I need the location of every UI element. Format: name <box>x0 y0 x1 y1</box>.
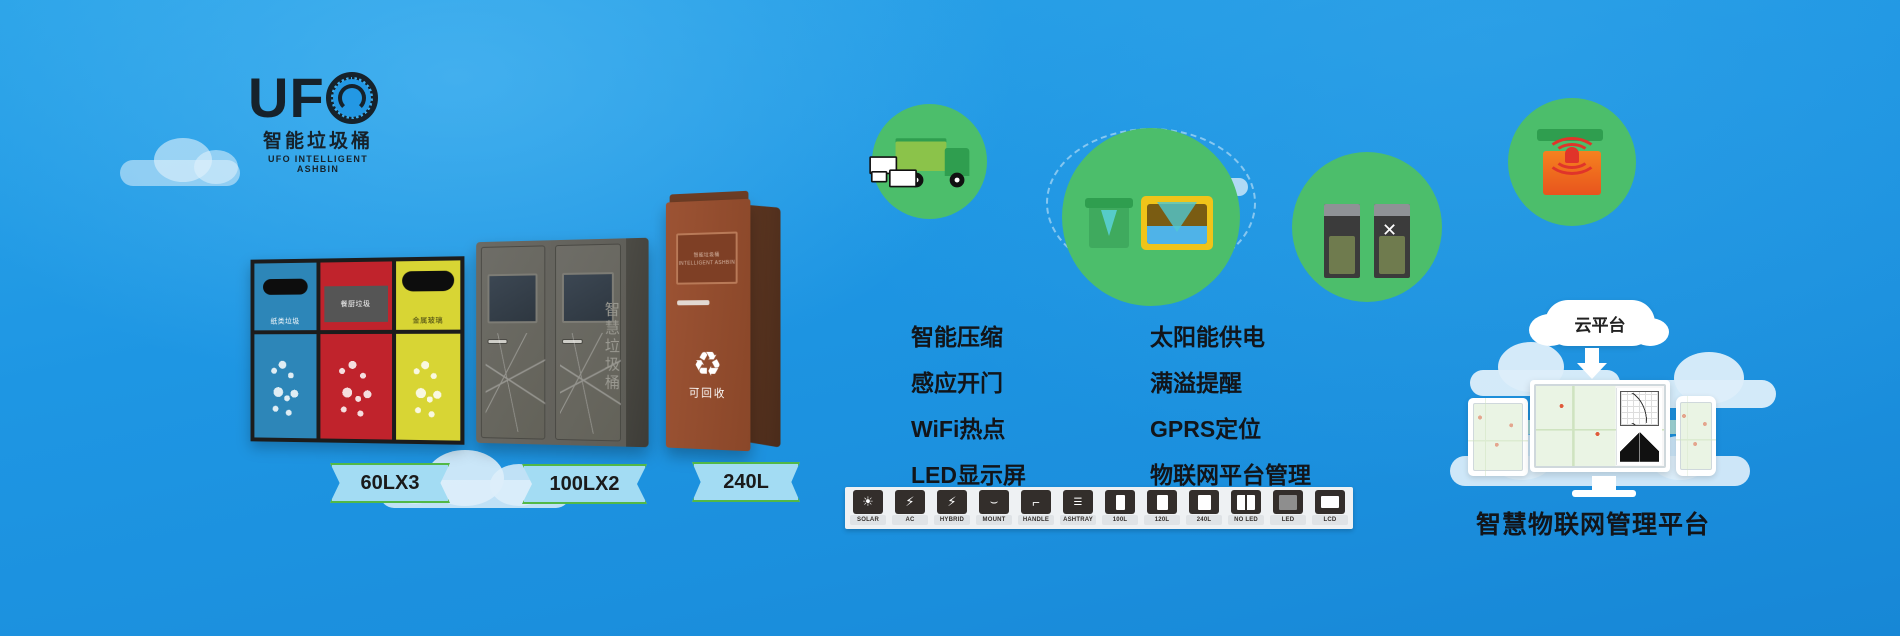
bin-door-left <box>481 245 545 439</box>
spec-caption: NO LED <box>1228 515 1264 525</box>
spec-caption: LCD <box>1312 515 1348 525</box>
promo-banner: U F 智能垃圾桶 UFO INTELLIGENT ASHBIN 纸类垃圾 餐厨… <box>0 0 1900 636</box>
spec-icon-100l: 100L <box>1102 490 1138 526</box>
feature-label: 太阳能供电 <box>1150 318 1265 352</box>
ufo-logo: U F 智能垃圾桶 UFO INTELLIGENT ASHBIN <box>248 68 388 174</box>
polygon-graphic-icon <box>486 333 546 433</box>
monitor-icon <box>875 465 897 482</box>
bin-screen-label-en: INTELLIGENT ASHBIN <box>678 259 735 266</box>
spec-icon-mount: ⌣ MOUNT <box>976 490 1012 526</box>
feature-label: 感应开门 <box>911 364 1003 398</box>
spec-caption: MOUNT <box>976 515 1012 525</box>
compartment-label: 金属玻璃 <box>413 315 444 325</box>
spec-caption: ASHTRAY <box>1060 515 1096 525</box>
compression-bin-icon: ✕ <box>1374 204 1410 278</box>
monitor-icon <box>875 327 897 344</box>
compartment-body-blue <box>254 334 316 438</box>
feature-circle-collection-fleet-dispatch <box>872 104 987 219</box>
feature-label: WiFi热点 <box>911 410 1005 444</box>
feature-circle-fill-level-detection <box>1062 128 1240 306</box>
product-smart-double-bin: 智慧垃圾桶 <box>476 238 648 448</box>
handle-icon: ⌐ <box>1021 490 1051 514</box>
bin-screen-window <box>488 273 538 323</box>
led-icon <box>1273 490 1303 514</box>
compartment-body-yellow <box>396 334 461 441</box>
desktop-monitor-device <box>1530 380 1670 472</box>
spec-caption: 240L <box>1186 515 1222 525</box>
sun-icon: ☀ <box>853 490 883 514</box>
feature-item: 感应开门 <box>875 364 1026 398</box>
recycle-label: 可回收 <box>666 384 751 402</box>
bin-side-text: 智慧垃圾桶 <box>601 301 622 392</box>
monitor-icon <box>1114 327 1136 344</box>
feature-item: GPRS定位 <box>1114 410 1311 444</box>
spec-icon-no-led: NO LED <box>1228 490 1264 526</box>
bin-opening-slot <box>263 279 307 295</box>
bin-door-right: 智慧垃圾桶 <box>555 244 621 442</box>
logo-english-name: UFO INTELLIGENT ASHBIN <box>248 154 388 174</box>
feature-label: 物联网平台管理 <box>1150 456 1311 490</box>
spec-icon-ashtray: ☰ ASHTRAY <box>1060 490 1096 526</box>
spec-icon-solar: ☀ SOLAR <box>850 490 886 526</box>
spec-caption: HYBRID <box>934 515 970 525</box>
ashtray-icon: ☰ <box>1063 490 1093 514</box>
compartment-label: 纸类垃圾 <box>271 316 300 326</box>
bin-frame: 纸类垃圾 餐厨垃圾 金属玻璃 <box>251 256 465 445</box>
spec-icon-hybrid: ⚡ HYBRID <box>934 490 970 526</box>
lcd-icon <box>1315 490 1345 514</box>
logo-letter-f: F <box>289 72 322 124</box>
recycling-mark: ♻ 可回收 <box>666 348 751 402</box>
bin-card-slot <box>677 300 709 305</box>
feature-circle-waste-compression: ✕ <box>1292 152 1442 302</box>
compartment-label: 餐厨垃圾 <box>341 299 371 309</box>
feature-label: LED显示屏 <box>911 456 1026 490</box>
compartment-top-red: 餐厨垃圾 <box>320 261 392 330</box>
bin-body: 智慧垃圾桶 <box>476 238 648 448</box>
bin-compartment-red: 餐厨垃圾 <box>320 261 392 439</box>
feature-column-left: 智能压缩 感应开门 WiFi热点 LED显示屏 <box>875 318 1026 490</box>
compartment-display-panel: 餐厨垃圾 <box>320 282 392 327</box>
waste-illustration-icon <box>334 348 378 425</box>
no-led-icon <box>1231 490 1261 514</box>
feature-item: LED显示屏 <box>875 456 1026 490</box>
compartment-top-blue: 纸类垃圾 <box>254 263 316 331</box>
spec-icon-led: LED <box>1270 490 1306 526</box>
overflow-dumpster-icon <box>1141 196 1213 250</box>
waste-illustration-icon <box>268 348 302 424</box>
cloud-platform-bubble: 云平台 <box>1545 300 1655 346</box>
capacity-120l-icon <box>1147 490 1177 514</box>
feature-column-right: 太阳能供电 满溢提醒 GPRS定位 物联网平台管理 <box>1114 318 1311 490</box>
spec-caption: HANDLE <box>1018 515 1054 525</box>
product-brown-recycling-bin: 智能垃圾桶 INTELLIGENT ASHBIN ♻ 可回收 <box>666 197 781 452</box>
feature-item: 物联网平台管理 <box>1114 456 1311 490</box>
capacity-240l-icon <box>1189 490 1219 514</box>
tablet-device <box>1468 398 1528 476</box>
bin-opening-slot <box>402 271 454 292</box>
spec-caption: SOLAR <box>850 515 886 525</box>
spec-caption: LED <box>1270 515 1306 525</box>
feature-circle-fire-alarm-detection <box>1508 98 1636 226</box>
feature-label: 智能压缩 <box>911 318 1003 352</box>
bin-compartment-yellow: 金属玻璃 <box>396 260 461 440</box>
spec-icon-120l: 120L <box>1144 490 1180 526</box>
bin-screen-label-cn: 智能垃圾桶 <box>694 251 720 259</box>
monitor-icon <box>1114 419 1136 436</box>
area-chart-icon <box>1620 428 1659 462</box>
line-chart-icon <box>1621 393 1658 425</box>
bin-side-panel <box>746 205 780 448</box>
monitor-icon <box>1114 465 1136 482</box>
monitor-icon <box>875 373 897 390</box>
bin-side-panel <box>626 238 649 448</box>
spec-icon-strip: ☀ SOLAR ⚡ AC ⚡ HYBRID ⌣ MOUNT ⌐ HANDLE ☰… <box>845 487 1353 529</box>
feature-item: 智能压缩 <box>875 318 1026 352</box>
feature-list: 智能压缩 感应开门 WiFi热点 LED显示屏 太阳能供电 满溢提醒 <box>875 318 1311 490</box>
compression-bin-icon <box>1324 204 1360 278</box>
smartphone-device <box>1676 396 1716 476</box>
feature-label: 满溢提醒 <box>1150 364 1242 398</box>
dashboard-screen <box>1534 384 1666 468</box>
feature-label: GPRS定位 <box>1150 410 1261 444</box>
recycle-icon: ♻ <box>666 348 751 383</box>
ring-icon <box>326 72 378 124</box>
spec-caption: AC <box>892 515 928 525</box>
garbage-truck-icon <box>890 136 969 187</box>
capacity-banner-100lx2: 100LX2 <box>522 464 647 504</box>
compartment-body-red <box>320 334 392 440</box>
waste-illustration-icon <box>410 348 446 426</box>
logo-wordmark: U F <box>248 68 388 124</box>
monitor-icon <box>875 419 897 436</box>
logo-letter-u: U <box>248 72 287 124</box>
bin-sensor-icon <box>1089 198 1129 248</box>
bin-screen-window: 智能垃圾桶 INTELLIGENT ASHBIN <box>676 231 737 284</box>
power-plug-icon: ⚡ <box>895 490 925 514</box>
feature-item: 满溢提醒 <box>1114 364 1311 398</box>
monitor-icon <box>1114 373 1136 390</box>
fire-alarm-bin-icon <box>1539 129 1605 195</box>
feature-item: 太阳能供电 <box>1114 318 1311 352</box>
monitor-base <box>1572 490 1636 497</box>
compartment-top-yellow: 金属玻璃 <box>396 260 461 329</box>
spec-icon-ac: ⚡ AC <box>892 490 928 526</box>
capacity-100l-icon <box>1105 490 1135 514</box>
wall-mount-icon: ⌣ <box>979 490 1009 514</box>
monitoring-devices-icon <box>869 156 920 189</box>
hybrid-power-icon: ⚡ <box>937 490 967 514</box>
chart-pane <box>1616 388 1662 465</box>
capacity-banner-240l: 240L <box>692 462 800 502</box>
bin-compartment-blue: 纸类垃圾 <box>254 263 316 439</box>
spec-icon-handle: ⌐ HANDLE <box>1018 490 1054 526</box>
logo-chinese-name: 智能垃圾桶 <box>248 126 388 153</box>
spec-icon-lcd: LCD <box>1312 490 1348 526</box>
spec-caption: 100L <box>1102 515 1138 525</box>
platform-title: 智慧物联网管理平台 <box>1443 505 1743 541</box>
cloud-platform-label: 云平台 <box>1575 311 1626 336</box>
spec-icon-240l: 240L <box>1186 490 1222 526</box>
feature-item: WiFi热点 <box>875 410 1026 444</box>
product-tri-color-recycling-bin: 纸类垃圾 餐厨垃圾 金属玻璃 <box>251 256 465 445</box>
bin-front-panel: 智能垃圾桶 INTELLIGENT ASHBIN ♻ 可回收 <box>666 199 751 452</box>
capacity-banner-60lx3: 60LX3 <box>330 463 450 503</box>
spec-caption: 120L <box>1144 515 1180 525</box>
